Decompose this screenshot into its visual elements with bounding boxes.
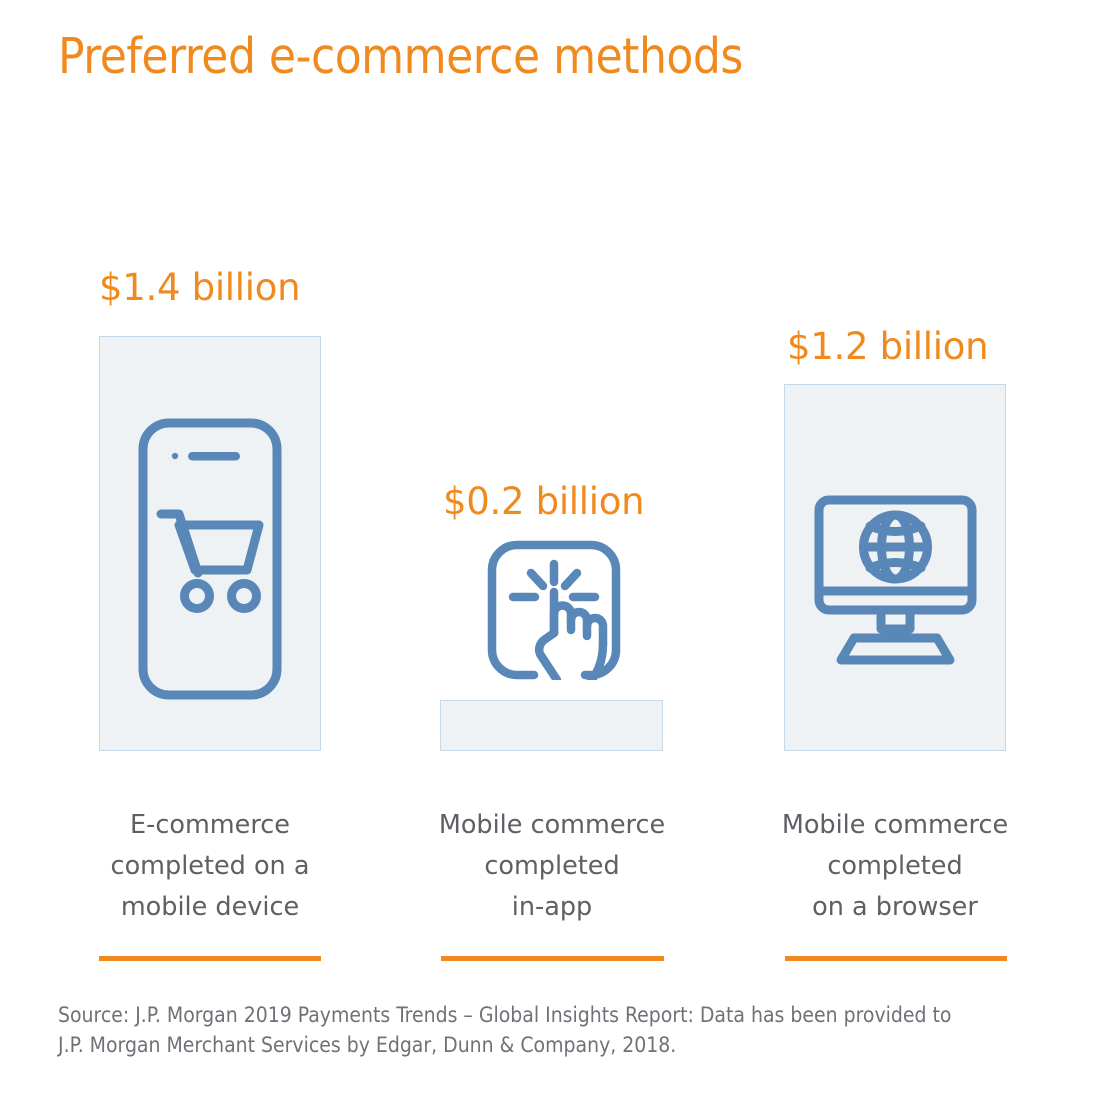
bar-underline-2 <box>441 956 664 961</box>
desktop-globe-icon <box>814 495 977 665</box>
bar-underline-1 <box>99 956 321 961</box>
bar-caption-2: Mobile commerce completed in-app <box>421 805 683 928</box>
bar-chart: $1.4 billion E-commerce completed on a m… <box>0 0 1108 1114</box>
bar-2 <box>440 700 663 751</box>
source-note: Source: J.P. Morgan 2019 Payments Trends… <box>58 1000 1048 1060</box>
bar-value-label-2: $0.2 billion <box>443 480 644 523</box>
bar-value-label-1: $1.4 billion <box>99 266 300 309</box>
smartphone-cart-icon <box>138 418 282 700</box>
bar-value-label-3: $1.2 billion <box>787 325 988 368</box>
bar-caption-3: Mobile commerce completed on a browser <box>764 805 1026 928</box>
infographic-page: Preferred e-commerce methods $1.4 billio… <box>0 0 1108 1114</box>
bar-caption-1: E-commerce completed on a mobile device <box>79 805 341 928</box>
app-tap-icon <box>487 540 621 680</box>
bar-underline-3 <box>785 956 1007 961</box>
